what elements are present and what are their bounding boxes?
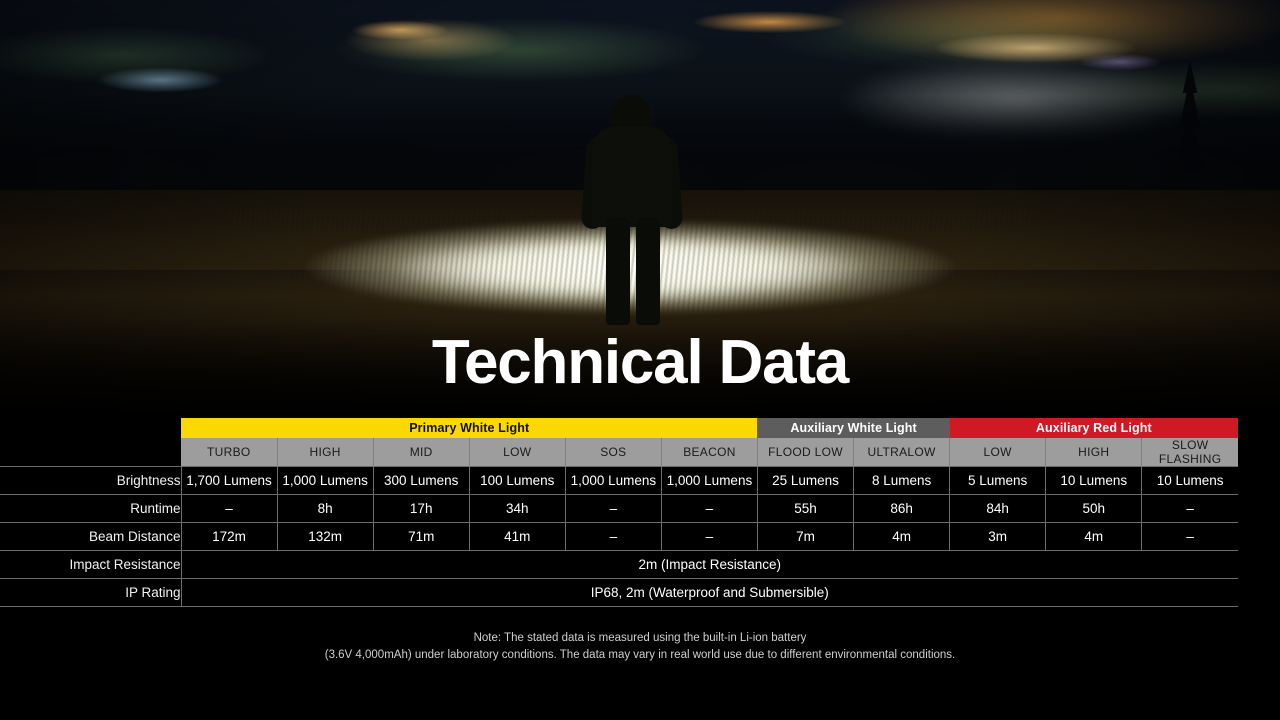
row-label-ip-rating: IP Rating	[0, 579, 181, 607]
technical-data-table-wrapper: Primary White Light Auxiliary White Ligh…	[0, 418, 1280, 607]
cell-runtime-flood-low: 55h	[757, 495, 853, 523]
mode-header-turbo: TURBO	[181, 438, 277, 467]
mode-header-low: LOW	[469, 438, 565, 467]
cell-beam-distance-low: 41m	[469, 523, 565, 551]
cell-runtime-slow-flashing: –	[1142, 495, 1238, 523]
table-row-brightness: Brightness 1,700 Lumens 1,000 Lumens 300…	[0, 467, 1238, 495]
mode-header-ultralow: ULTRALOW	[854, 438, 950, 467]
mode-header-beacon: BEACON	[661, 438, 757, 467]
cell-beam-distance-sos: –	[565, 523, 661, 551]
cell-brightness-flood-low: 25 Lumens	[757, 467, 853, 495]
cell-beam-distance-ultralow: 4m	[854, 523, 950, 551]
group-header-row: Primary White Light Auxiliary White Ligh…	[0, 418, 1238, 438]
mode-header-sos: SOS	[565, 438, 661, 467]
cell-beam-distance-slow-flashing: –	[1142, 523, 1238, 551]
cell-ip-rating-value: IP68, 2m (Waterproof and Submersible)	[181, 579, 1238, 607]
row-label-runtime: Runtime	[0, 495, 181, 523]
slide-root: Technical Data Primary White Light Auxil…	[0, 0, 1280, 720]
mode-header-row: TURBO HIGH MID LOW SOS BEACON FLOOD LOW …	[0, 438, 1238, 467]
cell-beam-distance-red-high: 4m	[1046, 523, 1142, 551]
row-label-beam-distance: Beam Distance	[0, 523, 181, 551]
mode-header-high: HIGH	[277, 438, 373, 467]
cell-brightness-red-high: 10 Lumens	[1046, 467, 1142, 495]
table-row-runtime: Runtime – 8h 17h 34h – – 55h 86h 84h 50h…	[0, 495, 1238, 523]
cell-beam-distance-beacon: –	[661, 523, 757, 551]
cell-runtime-beacon: –	[661, 495, 757, 523]
cell-runtime-ultralow: 86h	[854, 495, 950, 523]
cell-brightness-mid: 300 Lumens	[373, 467, 469, 495]
cell-runtime-low: 34h	[469, 495, 565, 523]
group-auxiliary-white-light: Auxiliary White Light	[757, 418, 949, 438]
table-row-ip-rating: IP Rating IP68, 2m (Waterproof and Subme…	[0, 579, 1238, 607]
cell-beam-distance-mid: 71m	[373, 523, 469, 551]
cell-brightness-high: 1,000 Lumens	[277, 467, 373, 495]
cell-beam-distance-flood-low: 7m	[757, 523, 853, 551]
technical-data-table: Primary White Light Auxiliary White Ligh…	[0, 418, 1238, 607]
cell-runtime-red-low: 84h	[950, 495, 1046, 523]
cell-runtime-red-high: 50h	[1046, 495, 1142, 523]
mode-header-mid: MID	[373, 438, 469, 467]
cell-runtime-high: 8h	[277, 495, 373, 523]
cell-brightness-ultralow: 8 Lumens	[854, 467, 950, 495]
table-row-impact-resistance: Impact Resistance 2m (Impact Resistance)	[0, 551, 1238, 579]
cell-beam-distance-turbo: 172m	[181, 523, 277, 551]
cell-brightness-sos: 1,000 Lumens	[565, 467, 661, 495]
table-row-beam-distance: Beam Distance 172m 132m 71m 41m – – 7m 4…	[0, 523, 1238, 551]
mode-header-slow-flashing: SLOW FLASHING	[1142, 438, 1238, 467]
cell-impact-resistance-value: 2m (Impact Resistance)	[181, 551, 1238, 579]
group-header-spacer	[0, 418, 181, 438]
row-label-brightness: Brightness	[0, 467, 181, 495]
mode-header-red-low: LOW	[950, 438, 1046, 467]
cell-runtime-mid: 17h	[373, 495, 469, 523]
cell-brightness-red-low: 5 Lumens	[950, 467, 1046, 495]
cell-brightness-beacon: 1,000 Lumens	[661, 467, 757, 495]
cell-brightness-turbo: 1,700 Lumens	[181, 467, 277, 495]
footnote: Note: The stated data is measured using …	[0, 630, 1280, 664]
row-label-impact-resistance: Impact Resistance	[0, 551, 181, 579]
cell-beam-distance-red-low: 3m	[950, 523, 1046, 551]
mode-header-red-high: HIGH	[1046, 438, 1142, 467]
page-title: Technical Data	[0, 332, 1280, 394]
cell-runtime-turbo: –	[181, 495, 277, 523]
cell-runtime-sos: –	[565, 495, 661, 523]
footnote-line-1: Note: The stated data is measured using …	[0, 630, 1280, 647]
cell-brightness-low: 100 Lumens	[469, 467, 565, 495]
cell-brightness-slow-flashing: 10 Lumens	[1142, 467, 1238, 495]
group-primary-white-light: Primary White Light	[181, 418, 757, 438]
group-auxiliary-red-light: Auxiliary Red Light	[950, 418, 1238, 438]
mode-header-spacer	[0, 438, 181, 467]
footnote-line-2: (3.6V 4,000mAh) under laboratory conditi…	[0, 647, 1280, 664]
cell-beam-distance-high: 132m	[277, 523, 373, 551]
mode-header-flood-low: FLOOD LOW	[757, 438, 853, 467]
